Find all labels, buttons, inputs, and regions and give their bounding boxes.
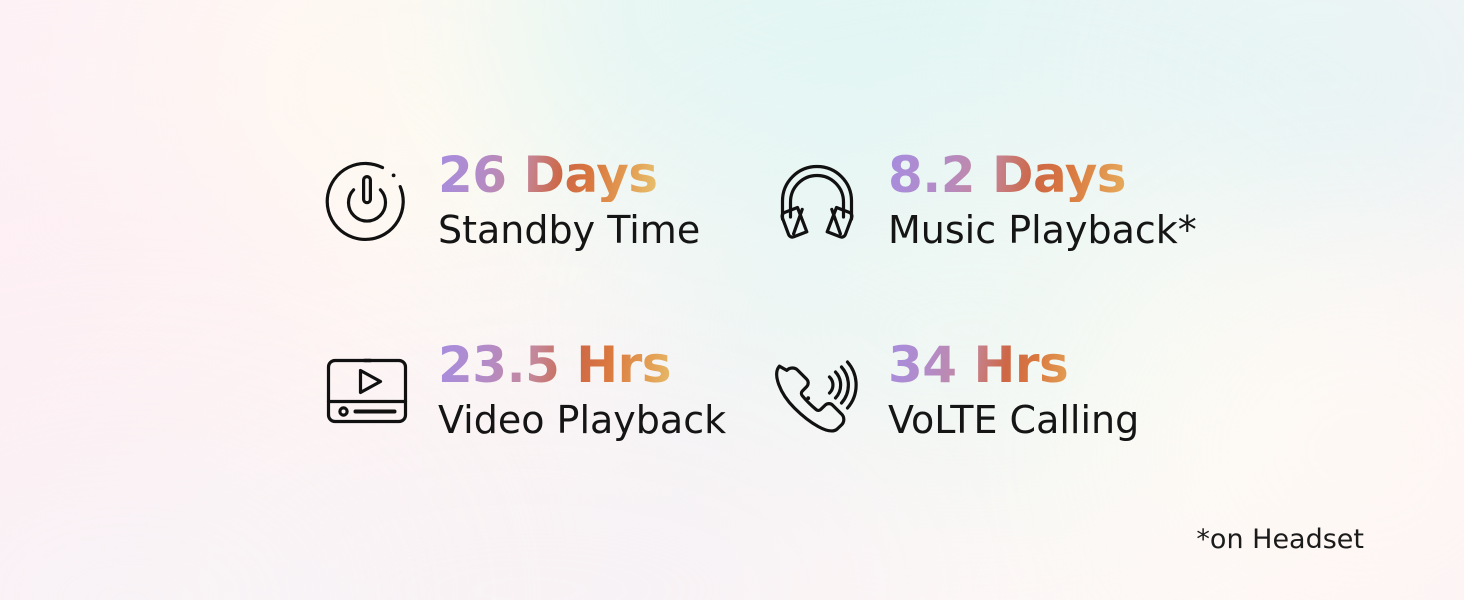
spec-item-volte-calling: 34 Hrs VoLTE Calling bbox=[772, 340, 1139, 442]
spec-label: Video Playback bbox=[438, 400, 726, 442]
spec-text-block: 26 Days Standby Time bbox=[438, 150, 700, 252]
spec-label: VoLTE Calling bbox=[888, 400, 1139, 442]
spec-label: Standby Time bbox=[438, 210, 700, 252]
spec-text-block: 34 Hrs VoLTE Calling bbox=[888, 340, 1139, 442]
spec-label: Music Playback* bbox=[888, 210, 1197, 252]
spec-item-video-playback: 23.5 Hrs Video Playback bbox=[322, 340, 726, 442]
phone-call-icon bbox=[772, 343, 862, 438]
footnote: *on Headset bbox=[1196, 524, 1364, 555]
spec-value: 23.5 Hrs bbox=[438, 340, 726, 392]
spec-text-block: 8.2 Days Music Playback* bbox=[888, 150, 1197, 252]
spec-text-block: 23.5 Hrs Video Playback bbox=[438, 340, 726, 442]
spec-item-music-playback: 8.2 Days Music Playback* bbox=[772, 150, 1197, 252]
headphones-icon bbox=[772, 153, 862, 248]
spec-value: 8.2 Days bbox=[888, 150, 1197, 202]
spec-value: 34 Hrs bbox=[888, 340, 1139, 392]
spec-item-standby-time: 26 Days Standby Time bbox=[322, 150, 700, 252]
spec-value: 26 Days bbox=[438, 150, 700, 202]
video-player-icon bbox=[322, 343, 412, 438]
spec-banner: 26 Days Standby Time bbox=[0, 0, 1464, 600]
power-icon bbox=[322, 153, 412, 248]
spec-grid: 26 Days Standby Time bbox=[0, 0, 1464, 600]
